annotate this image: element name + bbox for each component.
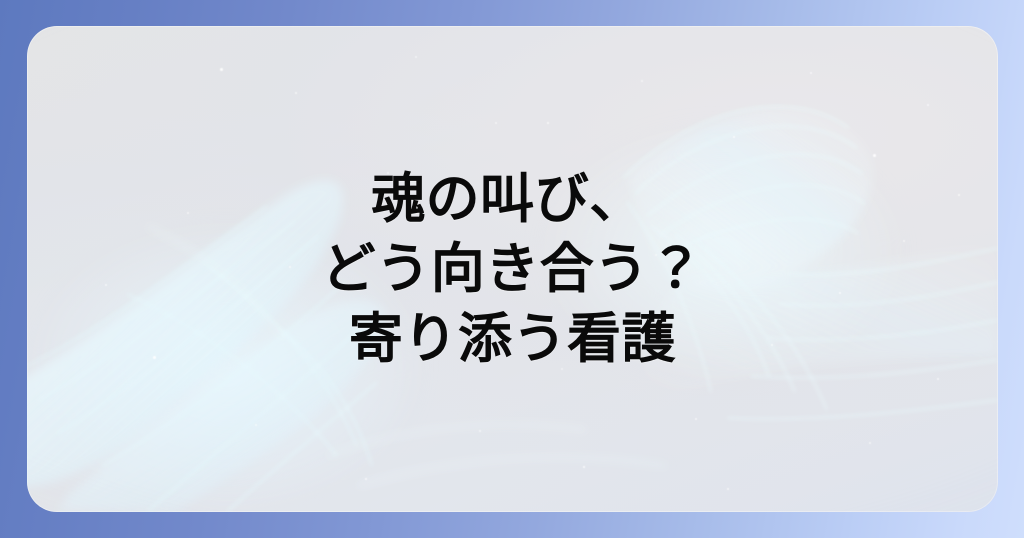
- title-line-3: 寄り添う看護: [349, 311, 676, 367]
- title-block: 魂の叫び、 どう向き合う？ 寄り添う看護: [27, 26, 998, 512]
- hero-card: 魂の叫び、 どう向き合う？ 寄り添う看護: [27, 26, 998, 512]
- title-line-1: 魂の叫び、: [371, 171, 644, 227]
- title-line-2: どう向き合う？: [322, 241, 704, 297]
- thumbnail-frame: 魂の叫び、 どう向き合う？ 寄り添う看護: [0, 0, 1024, 538]
